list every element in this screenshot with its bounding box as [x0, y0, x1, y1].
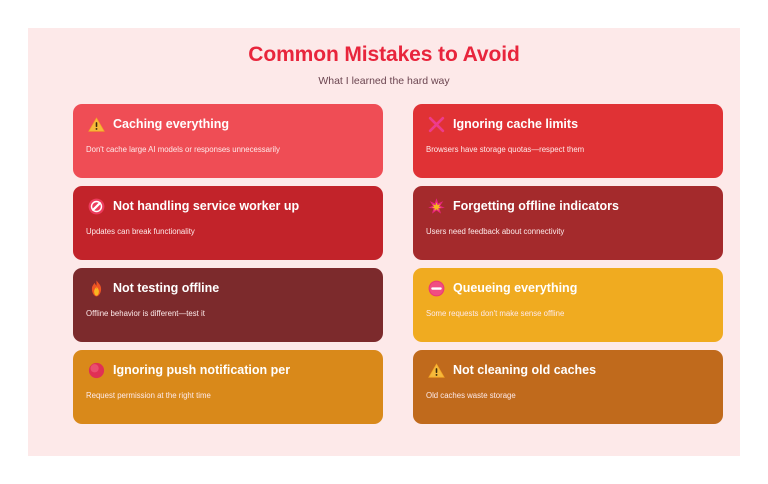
mistake-card-description: Don't cache large AI models or responses… — [86, 143, 291, 157]
mistake-card[interactable]: Ignoring cache limitsBrowsers have stora… — [413, 104, 723, 178]
mistake-card-description: Request permission at the right time — [86, 389, 291, 403]
mistake-card-header: Not cleaning old caches — [426, 360, 710, 382]
mistake-card-header: Queueing everything — [426, 278, 710, 300]
mistake-card-title: Queueing everything — [453, 282, 577, 296]
mistakes-card-grid: Caching everythingDon't cache large AI m… — [73, 104, 695, 424]
mistake-card-description: Users need feedback about connectivity — [426, 225, 631, 239]
mistake-card-header: Not testing offline — [86, 278, 370, 300]
mistake-card[interactable]: Not testing offlineOffline behavior is d… — [73, 268, 383, 342]
star-burst-icon — [426, 197, 446, 217]
mistake-card-title: Not handling service worker up — [113, 200, 299, 214]
mistake-card-description: Browsers have storage quotas—respect the… — [426, 143, 631, 157]
mistake-card-header: Forgetting offline indicators — [426, 196, 710, 218]
mistake-card-title: Not testing offline — [113, 282, 219, 296]
mistake-card[interactable]: Ignoring push notification perRequest pe… — [73, 350, 383, 424]
mistake-card[interactable]: Queueing everythingSome requests don't m… — [413, 268, 723, 342]
mistake-card-title: Forgetting offline indicators — [453, 200, 619, 214]
warning-triangle-icon — [426, 361, 446, 381]
no-entry-icon — [426, 279, 446, 299]
mistake-card-description: Old caches waste storage — [426, 389, 631, 403]
warning-triangle-icon — [86, 115, 106, 135]
prohibited-icon — [86, 197, 106, 217]
mistake-card[interactable]: Not cleaning old cachesOld caches waste … — [413, 350, 723, 424]
mistake-card-description: Updates can break functionality — [86, 225, 291, 239]
fire-icon — [86, 279, 106, 299]
red-circle-icon — [86, 361, 106, 381]
page-title: Common Mistakes to Avoid — [28, 42, 740, 67]
slide-header: Common Mistakes to Avoid What I learned … — [28, 28, 740, 88]
mistake-card-title: Caching everything — [113, 118, 229, 132]
mistake-card-title: Ignoring push notification per — [113, 364, 290, 378]
page-subtitle: What I learned the hard way — [28, 75, 740, 88]
mistake-card-header: Ignoring push notification per — [86, 360, 370, 382]
mistake-card[interactable]: Forgetting offline indicatorsUsers need … — [413, 186, 723, 260]
mistake-card-description: Some requests don't make sense offline — [426, 307, 631, 321]
mistake-card-description: Offline behavior is different—test it — [86, 307, 291, 321]
mistake-card[interactable]: Not handling service worker upUpdates ca… — [73, 186, 383, 260]
mistake-card-title: Ignoring cache limits — [453, 118, 578, 132]
mistake-card-title: Not cleaning old caches — [453, 364, 596, 378]
cross-mark-icon — [426, 115, 446, 135]
mistake-card-header: Not handling service worker up — [86, 196, 370, 218]
slide-panel: Common Mistakes to Avoid What I learned … — [28, 28, 740, 456]
mistake-card[interactable]: Caching everythingDon't cache large AI m… — [73, 104, 383, 178]
mistake-card-header: Caching everything — [86, 114, 370, 136]
mistake-card-header: Ignoring cache limits — [426, 114, 710, 136]
